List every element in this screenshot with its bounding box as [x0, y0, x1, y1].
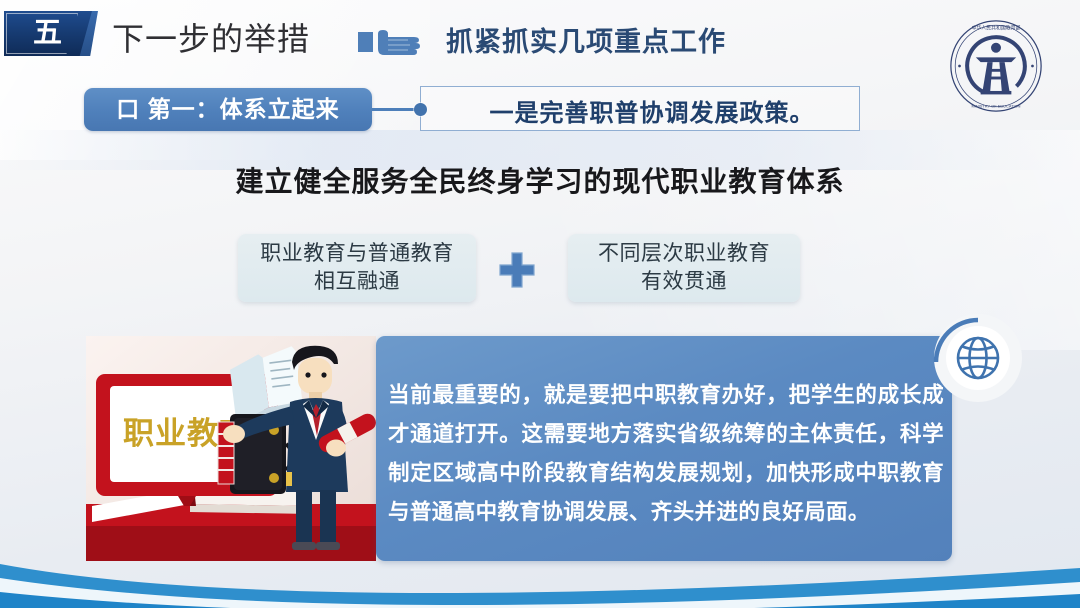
bottom-wave-decoration — [0, 548, 1080, 608]
slide-canvas: 五 下一步的举措 抓紧抓实几项重点工作 中华人民共和国教育部 MINISTRY — [0, 0, 1080, 608]
globe-icon — [930, 310, 1026, 406]
connector-dot-icon — [414, 103, 427, 116]
concept-right-line1: 不同层次职业教育 — [598, 240, 770, 268]
concept-left-line2: 相互融通 — [314, 268, 400, 296]
concept-right-line2: 有效贯通 — [641, 268, 727, 296]
svg-text:MINISTRY OF EDUCATION: MINISTRY OF EDUCATION — [971, 103, 1020, 108]
header-subtitle: 抓紧抓实几项重点工作 — [446, 20, 726, 59]
concept-box-right: 不同层次职业教育 有效贯通 — [568, 234, 800, 302]
section-heading: 建立健全服务全民终身学习的现代职业教育体系 — [0, 160, 1080, 200]
plus-icon — [497, 250, 537, 290]
concept-box-left: 职业教育与普通教育 相互融通 — [238, 234, 476, 302]
ministry-of-education-emblem: 中华人民共和国教育部 MINISTRY OF EDUCATION — [948, 18, 1044, 114]
vocational-education-illustration: 职业教育 — [86, 336, 376, 561]
page-title: 下一步的举措 — [112, 14, 310, 60]
statement-text: 一是完善职普协调发展政策。 — [452, 93, 852, 128]
section-number-badge: 五 — [4, 11, 92, 56]
concept-left-line1: 职业教育与普通教育 — [260, 240, 454, 268]
pointing-hand-icon — [358, 28, 422, 56]
subsection-pill[interactable]: 口 第一：体系立起来 — [84, 88, 372, 131]
connector-line — [372, 108, 420, 111]
paragraph-text: 当前最重要的，就是要把中职教育办好，把学生的成长成才通道打开。这需要地方落实省级… — [388, 376, 944, 532]
